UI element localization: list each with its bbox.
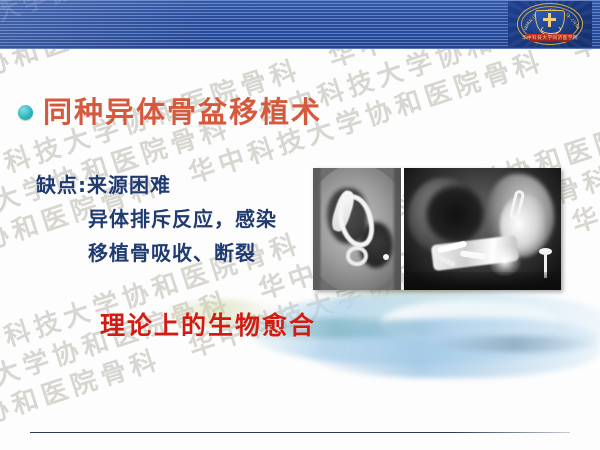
bullet-dot-icon — [18, 105, 33, 120]
logo-band-text: 华中科技大学同济医学院 — [522, 35, 578, 41]
logo-serpent-icon — [541, 25, 561, 34]
logo-arc-char: A — [575, 26, 581, 31]
body-line-1: 缺点:来源困难 — [36, 168, 277, 202]
medical-image-group — [313, 168, 561, 290]
slide-content: 同种异体骨盆移植术 缺点:来源困难 异体排斥反应，感染 移植骨吸收、断裂 理论上… — [0, 0, 600, 450]
body-line-3: 移植骨吸收、断裂 — [36, 236, 277, 270]
pelvis-ct-axial-scan — [313, 168, 401, 290]
xray-pelvic-inlet — [426, 186, 484, 242]
logo-cross-bar-icon — [543, 18, 556, 21]
ct-frame-edge — [313, 168, 401, 290]
hospital-logo-icon: WUHAN UNION HOSPITAL OF CHINA 华中科技大学同济医学… — [508, 1, 592, 47]
presentation-slide: 华中科技大学协和医院骨科 华中科技大学协和医院骨科 华中科技大学协和医院骨科 华… — [0, 0, 600, 450]
logo-name-band: 华中科技大学同济医学院 — [526, 34, 574, 42]
slide-title-row: 同种异体骨盆移植术 — [18, 98, 322, 127]
pelvis-xray-radiograph — [404, 168, 561, 290]
highlight-text: 理论上的生物愈合 — [100, 306, 316, 342]
xray-bottom-shadow — [404, 272, 561, 290]
body-line-2: 异体排斥反应，感染 — [36, 202, 277, 236]
footer-divider — [30, 432, 570, 433]
body-text-block: 缺点:来源困难 异体排斥反应，感染 移植骨吸收、断裂 — [36, 168, 277, 270]
page-title: 同种异体骨盆移植术 — [43, 98, 322, 127]
